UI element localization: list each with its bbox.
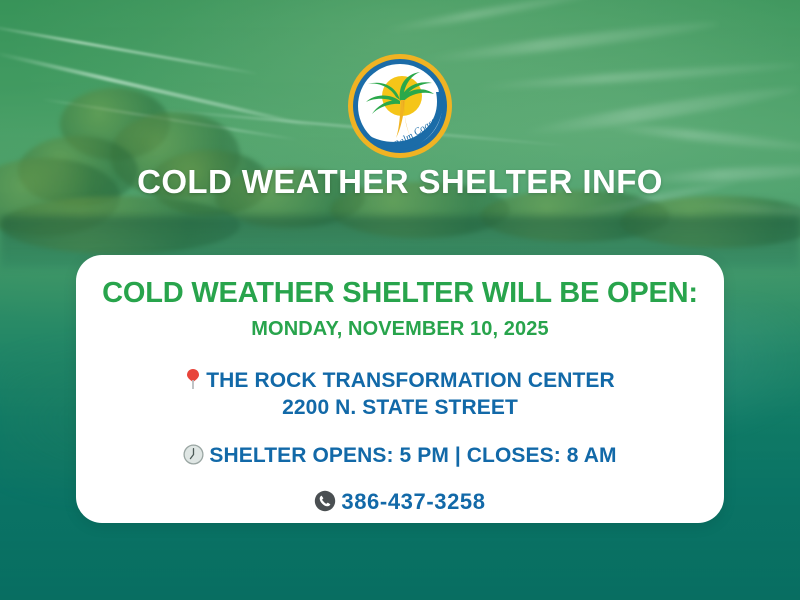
phone-block[interactable]: 386-437-3258 <box>102 489 698 515</box>
clock-icon <box>183 444 204 465</box>
card-heading: COLD WEATHER SHELTER WILL BE OPEN: <box>102 277 698 309</box>
map-pin-icon <box>185 368 201 390</box>
hours-text: SHELTER OPENS: 5 PM | CLOSES: 8 AM <box>209 444 616 467</box>
info-card: COLD WEATHER SHELTER WILL BE OPEN: MONDA… <box>76 255 724 523</box>
phone-number[interactable]: 386-437-3258 <box>341 489 485 514</box>
venue-block: THE ROCK TRANSFORMATION CENTER 2200 N. S… <box>102 368 698 422</box>
card-subheading-date: MONDAY, NOVEMBER 10, 2025 <box>102 318 698 341</box>
phone-icon <box>314 490 336 512</box>
palm-coast-logo: Palm Coast <box>346 52 454 160</box>
hours-block: SHELTER OPENS: 5 PM | CLOSES: 8 AM <box>102 444 698 468</box>
cold-weather-shelter-poster: Palm Coast COLD WEATHER SHELTER INFO COL… <box>0 0 800 600</box>
venue-address: 2200 N. STATE STREET <box>102 395 698 422</box>
venue-name: THE ROCK TRANSFORMATION CENTER <box>206 369 615 392</box>
page-title: COLD WEATHER SHELTER INFO <box>0 163 800 201</box>
